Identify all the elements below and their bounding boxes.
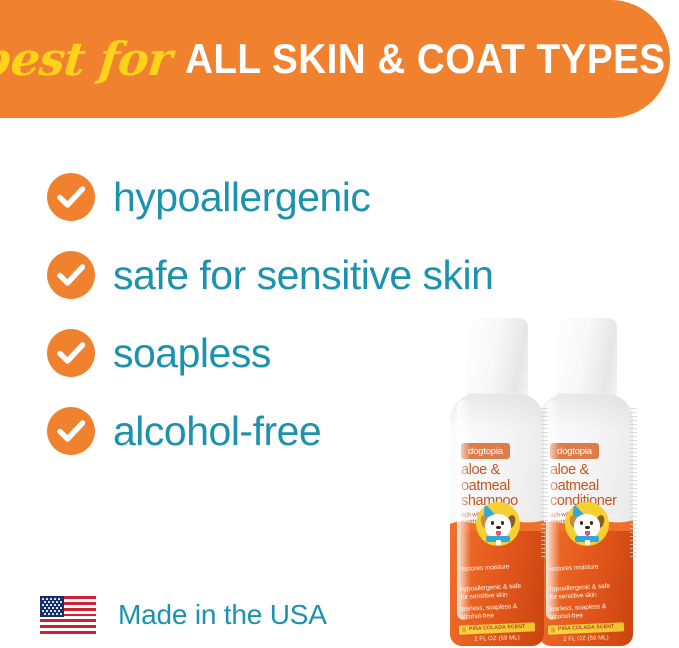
usa-flag-icon <box>40 596 96 634</box>
header-bold-text: ALL SKIN & COAT TYPES <box>185 38 666 80</box>
net-volume: 2 FL OZ (59 ML) <box>450 634 544 643</box>
bottle-conditioner: dogtopia aloe & oatmeal conditioner rich… <box>539 318 633 646</box>
made-in-usa: Made in the USA <box>40 596 327 634</box>
bottle-side-ridges <box>630 408 637 558</box>
pineapple-icon <box>462 627 466 632</box>
pineapple-icon <box>551 627 555 632</box>
header-banner: best for ALL SKIN & COAT TYPES <box>0 0 670 118</box>
check-circle-icon <box>47 251 95 299</box>
header-script-text: best for <box>0 36 174 82</box>
list-item: hypoallergenic <box>47 158 607 236</box>
bottle-body: dogtopia aloe & oatmeal conditioner rich… <box>539 394 633 646</box>
made-in-usa-label: Made in the USA <box>118 599 327 631</box>
product-claim: restores moisture <box>549 563 599 573</box>
dog-mascot-icon <box>565 502 609 546</box>
check-circle-icon <box>47 173 95 221</box>
product-claim: tearless, soapless & alcohol-free <box>460 603 518 621</box>
scent-badge: PIÑA COLADA SCENT <box>459 622 535 634</box>
dog-mascot-icon <box>476 502 520 546</box>
bottle-shoulder-shading <box>450 394 544 430</box>
benefit-label: safe for sensitive skin <box>113 255 493 296</box>
brand-badge: dogtopia <box>550 443 599 459</box>
label-color-band: restores moisture hypoallergenic & safe … <box>450 526 544 646</box>
header-banner-content: best for ALL SKIN & COAT TYPES <box>0 0 670 118</box>
benefit-label: hypoallergenic <box>113 177 370 218</box>
product-claim: hypoallergenic & safe for sensitive skin <box>460 583 522 601</box>
list-item: safe for sensitive skin <box>47 236 607 314</box>
benefit-label: soapless <box>113 333 271 374</box>
bottle-body: dogtopia aloe & oatmeal shampoo rich wit… <box>450 394 544 646</box>
bottle-cap <box>466 318 528 396</box>
product-image: dogtopia aloe & oatmeal shampoo rich wit… <box>442 318 647 648</box>
scent-badge: PIÑA COLADA SCENT <box>548 622 624 634</box>
bottle-shampoo: dogtopia aloe & oatmeal shampoo rich wit… <box>450 318 544 646</box>
check-circle-icon <box>47 407 95 455</box>
scent-label: PIÑA COLADA SCENT <box>558 624 615 632</box>
bottle-cap <box>555 318 617 396</box>
product-claim: hypoallergenic & safe for sensitive skin <box>549 583 611 601</box>
product-claim: tearless, soapless & alcohol-free <box>549 603 607 621</box>
bottle-side-ridges <box>541 408 548 558</box>
bottle-shoulder-shading <box>539 394 633 430</box>
net-volume: 2 FL OZ (59 ML) <box>539 634 633 643</box>
check-circle-icon <box>47 329 95 377</box>
brand-badge: dogtopia <box>461 443 510 459</box>
scent-label: PIÑA COLADA SCENT <box>469 624 526 632</box>
product-claim: restores moisture <box>460 563 510 573</box>
label-color-band: restores moisture hypoallergenic & safe … <box>539 526 633 646</box>
benefit-label: alcohol-free <box>113 411 321 452</box>
